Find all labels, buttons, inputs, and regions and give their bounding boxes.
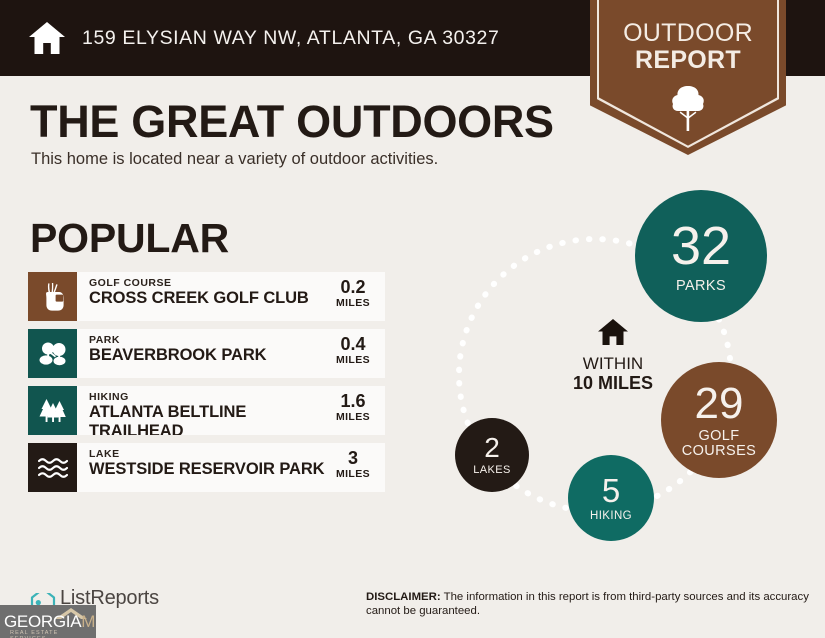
list-item-body: GOLF COURSE CROSS CREEK GOLF CLUB (77, 272, 327, 321)
distance-value: 0.2 (331, 278, 375, 297)
page-title: THE GREAT OUTDOORS (30, 96, 554, 148)
stat-value: 5 (602, 474, 620, 507)
distance-value: 3 (331, 449, 375, 468)
center-label-line2: 10 MILES (533, 373, 693, 393)
home-icon (597, 318, 629, 346)
mls-tagline: REAL ESTATE SERVICES (10, 630, 96, 638)
tree-icon (667, 84, 709, 132)
list-item-name: ATLANTA BELTLINE TRAILHEAD (89, 403, 327, 435)
stat-value: 32 (671, 219, 731, 273)
stat-label-line1: GOLF (698, 429, 739, 444)
distance-unit: MILES (331, 297, 375, 309)
stat-value: 2 (484, 434, 500, 462)
mls-wordmark-accent: MLS (81, 612, 96, 631)
badge-line2: REPORT (590, 47, 786, 74)
list-item-body: LAKE WESTSIDE RESERVOIR PARK (77, 443, 327, 492)
stat-bubble-lakes[interactable]: 2 LAKES (455, 418, 529, 492)
stat-bubble-hiking[interactable]: 5 HIKING (568, 455, 654, 541)
popular-list: GOLF COURSE CROSS CREEK GOLF CLUB 0.2 MI… (28, 272, 385, 500)
pine-trees-icon (28, 386, 77, 435)
distance-unit: MILES (331, 411, 375, 423)
water-waves-icon (28, 443, 77, 492)
disclaimer: DISCLAIMER: The information in this repo… (366, 591, 813, 618)
disclaimer-label: DISCLAIMER: (366, 591, 441, 603)
list-item-category: HIKING (89, 391, 327, 403)
list-item-distance: 3 MILES (327, 443, 385, 492)
chart-center-label: WITHIN 10 MILES (533, 318, 693, 393)
stat-bubble-parks[interactable]: 32 PARKS (635, 190, 767, 322)
list-item[interactable]: HIKING ATLANTA BELTLINE TRAILHEAD 1.6 MI… (28, 386, 385, 435)
stat-label: LAKES (473, 464, 510, 476)
park-tree-icon (28, 329, 77, 378)
section-title-popular: POPULAR (30, 215, 229, 262)
home-icon (28, 21, 66, 55)
list-item-category: LAKE (89, 448, 327, 460)
list-item-distance: 0.4 MILES (327, 329, 385, 378)
distance-unit: MILES (331, 354, 375, 366)
center-label-line1: WITHIN (533, 354, 693, 373)
list-item-name: CROSS CREEK GOLF CLUB (89, 289, 327, 308)
distance-unit: MILES (331, 468, 375, 480)
stat-label: HIKING (590, 510, 632, 522)
list-item-distance: 0.2 MILES (327, 272, 385, 321)
list-item[interactable]: PARK BEAVERBROOK PARK 0.4 MILES (28, 329, 385, 378)
outdoor-report-badge: OUTDOOR REPORT (590, 0, 786, 155)
list-item-body: HIKING ATLANTA BELTLINE TRAILHEAD (77, 386, 327, 435)
list-item-name: WESTSIDE RESERVOIR PARK (89, 460, 327, 479)
list-item-body: PARK BEAVERBROOK PARK (77, 329, 327, 378)
list-item-name: BEAVERBROOK PARK (89, 346, 327, 365)
mls-wordmark: GEORGIAMLS (4, 613, 96, 631)
georgia-mls-logo[interactable]: GEORGIAMLS REAL ESTATE SERVICES (0, 605, 96, 638)
outdoor-stats-chart: 32 PARKS 29 GOLF COURSES 5 HIKING 2 LAKE… (415, 170, 815, 560)
badge-label: OUTDOOR REPORT (590, 20, 786, 74)
header-content: 159 ELYSIAN WAY NW, ATLANTA, GA 30327 (28, 0, 499, 76)
page-subtitle: This home is located near a variety of o… (31, 150, 438, 169)
distance-value: 0.4 (331, 335, 375, 354)
list-item-distance: 1.6 MILES (327, 386, 385, 435)
badge-line1: OUTDOOR (623, 19, 753, 47)
stat-value: 29 (695, 382, 744, 426)
property-address: 159 ELYSIAN WAY NW, ATLANTA, GA 30327 (82, 27, 499, 50)
list-item[interactable]: GOLF COURSE CROSS CREEK GOLF CLUB 0.2 MI… (28, 272, 385, 321)
list-item-category: PARK (89, 334, 327, 346)
mls-wordmark-primary: GEORGIA (4, 612, 81, 631)
stat-label: PARKS (676, 278, 726, 294)
stat-label-line2: COURSES (682, 444, 757, 459)
distance-value: 1.6 (331, 392, 375, 411)
golf-bag-icon (28, 272, 77, 321)
list-item-category: GOLF COURSE (89, 277, 327, 289)
list-item[interactable]: LAKE WESTSIDE RESERVOIR PARK 3 MILES (28, 443, 385, 492)
